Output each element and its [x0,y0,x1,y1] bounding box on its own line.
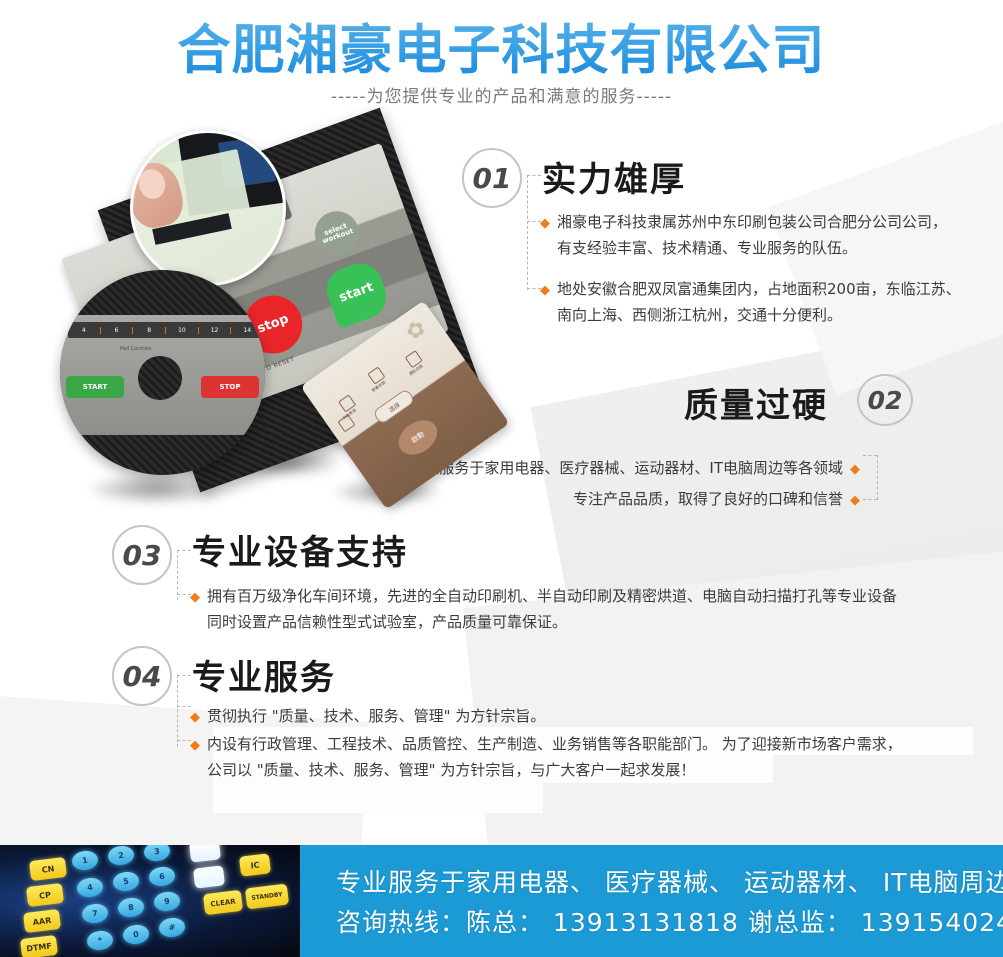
bullet-text: 公司以 "质量、技术、服务、管理" 为方针宗旨，与广大客户一起求发展！ [207,761,695,779]
bullet-item-cont: 同时设置产品信赖性型式试验室，产品质量可靠保证。 [207,609,567,635]
bullet-item: 专业服务于家用电器、医疗器械、运动器材、IT电脑周边等各领域◆ [409,455,860,483]
footer-key-white-1 [189,845,221,863]
bullet-text: 内设有行政管理、工程技术、品质管控、生产制造、业务销售等各职能部门。 为了迎接新… [207,735,902,753]
diamond-bullet-icon: ◆ [540,216,550,231]
poster-page: 合肥湘豪电子科技有限公司 -----为您提供专业的产品和满意的服务----- t… [0,0,1003,957]
section-badge-04: 04 [112,646,172,706]
connector-tick [863,499,877,500]
footer-banner: CN CP AAR DTMF 1 2 3 4 5 6 7 8 9 * 0 # I… [0,845,1003,957]
diamond-bullet-icon: ◆ [850,462,860,477]
bullet-item-cont: 有支经验丰富、技术精通、专业服务的队伍。 [557,235,857,261]
footer-key-dtmf: DTMF [20,935,58,957]
bullet-text: 地处安徽合肥双凤富通集团内，占地面积200亩，东临江苏、 [557,280,961,298]
connector-tick [177,675,191,676]
diamond-bullet-icon: ◆ [540,283,550,298]
connector-tick [177,706,191,707]
scale-tick: 12 [199,327,232,334]
footer-key-2: 2 [107,845,135,867]
diamond-bullet-icon: ◆ [190,738,200,753]
footer-key-standby: STANDBY [245,884,289,910]
connector-tick [527,175,541,176]
connector-tick [863,455,877,456]
connector-tick [527,288,541,289]
section-title-02: 质量过硬 [684,378,828,427]
company-slogan: -----为您提供专业的产品和满意的服务----- [0,82,1003,107]
round-panel-caption: Pad Controls [120,346,151,352]
footer-key-clear: CLEAR [203,890,243,915]
footer-key-5: 5 [112,870,140,892]
footer-key-white-2 [193,865,225,889]
bullet-item: ◆内设有行政管理、工程技术、品质管控、生产制造、业务销售等各职能部门。 为了迎接… [190,731,902,759]
bullet-item-cont: 公司以 "质量、技术、服务、管理" 为方针宗旨，与广大客户一起求发展！ [207,757,695,783]
footer-key-cn: CN [29,857,67,881]
footer-key-aar: AAR [23,909,61,933]
section-badge-02: 02 [857,374,913,426]
footer-text-panel: 专业服务于家用电器、 医疗器械、 运动器材、 IT电脑周边 咨询热线：陈总： 1… [300,845,1003,957]
connector-line [177,550,178,600]
connector-line [877,455,878,500]
connector-tick [527,221,541,222]
connector-tick [177,740,191,741]
bullet-item-cont: 南向上海、西侧浙江杭州，交通十分便利。 [557,302,842,328]
bullet-item: 专注产品品质，取得了良好的口碑和信誉◆ [573,486,860,514]
bullet-item: ◆地处安徽合肥双凤富通集团内，占地面积200亩，东临江苏、 [540,276,961,304]
product-collage: target enterdisplay ▲ ❁ selectworkout co… [55,120,475,520]
footer-key-cp: CP [26,883,64,907]
section-title-03: 专业设备支持 [192,525,408,574]
footer-service-line: 专业服务于家用电器、 医疗器械、 运动器材、 IT电脑周边 [336,863,1003,899]
round-panel-start-key: START [66,376,124,398]
section-title-04: 专业服务 [192,650,336,699]
footer-key-8: 8 [117,896,145,918]
footer-key-hash: # [158,916,186,938]
bullet-text: 南向上海、西侧浙江杭州，交通十分便利。 [557,306,842,324]
scale-tick: 4 [68,327,101,334]
round-panel-scale: 4 6 8 10 12 14 [68,322,264,338]
bullet-text: 专注产品品质，取得了良好的口碑和信誉 [573,490,843,508]
bullet-text: 拥有百万级净化车间环境，先进的全自动印刷机、半自动印刷及精密烘道、电脑自动扫描打… [207,587,897,605]
footer-key-1: 1 [71,849,99,871]
scale-tick: 6 [101,327,134,334]
scale-tick: 8 [133,327,166,334]
bullet-item: ◆拥有百万级净化车间环境，先进的全自动印刷机、半自动印刷及精密烘道、电脑自动扫描… [190,583,897,611]
footer-key-ic: IC [239,853,271,877]
footer-key-3: 3 [143,845,171,863]
round-control-panel-photo: 4 6 8 10 12 14 Pad Controls START STOP [60,270,265,475]
text-background-patch-3 [213,783,543,813]
connector-tick [177,550,191,551]
connector-tick [177,594,191,595]
section-title-01: 实力雄厚 [542,152,686,201]
footer-key-9: 9 [153,890,181,912]
diamond-bullet-icon: ◆ [190,710,200,725]
film-peel-detail-photo [130,130,286,286]
footer-hotline-line: 咨询热线：陈总： 13913131818 谢总监： 13915402428 [336,903,1003,939]
footer-key-4: 4 [76,876,104,898]
poster-header: 合肥湘豪电子科技有限公司 -----为您提供专业的产品和满意的服务----- [0,0,1003,120]
footer-key-7: 7 [81,902,109,924]
round-panel-knob [138,356,182,400]
scale-tick: 14 [231,327,264,334]
bullet-text: 湘豪电子科技隶属苏州中东印刷包装公司合肥分公司公司， [557,213,947,231]
footer-key-star: * [86,929,114,951]
section-badge-03: 03 [112,525,172,585]
diamond-bullet-icon: ◆ [850,493,860,508]
bullet-item: ◆贯彻执行 "质量、技术、服务、管理" 为方针宗旨。 [190,703,545,731]
bullet-text: 同时设置产品信赖性型式试验室，产品质量可靠保证。 [207,613,567,631]
backlit-keypad-photo: CN CP AAR DTMF 1 2 3 4 5 6 7 8 9 * 0 # I… [0,845,300,957]
diamond-bullet-icon: ◆ [190,590,200,605]
bullet-text: 有支经验丰富、技术精通、专业服务的队伍。 [557,239,857,257]
company-title: 合肥湘豪电子科技有限公司 [0,8,1003,84]
bullet-text: 贯彻执行 "质量、技术、服务、管理" 为方针宗旨。 [207,707,545,725]
round-panel-stop-key: STOP [201,376,259,398]
footer-key-6: 6 [148,865,176,887]
bullet-item: ◆湘豪电子科技隶属苏州中东印刷包装公司合肥分公司公司， [540,209,947,237]
footer-key-0: 0 [122,923,150,945]
fan-select-key: 选择 [372,388,416,425]
connector-line [527,175,528,290]
connector-line [177,675,178,747]
scale-tick: 10 [166,327,199,334]
leaf-icon: ✿ [401,315,430,346]
fan-start-key: 啟動 [392,413,444,462]
